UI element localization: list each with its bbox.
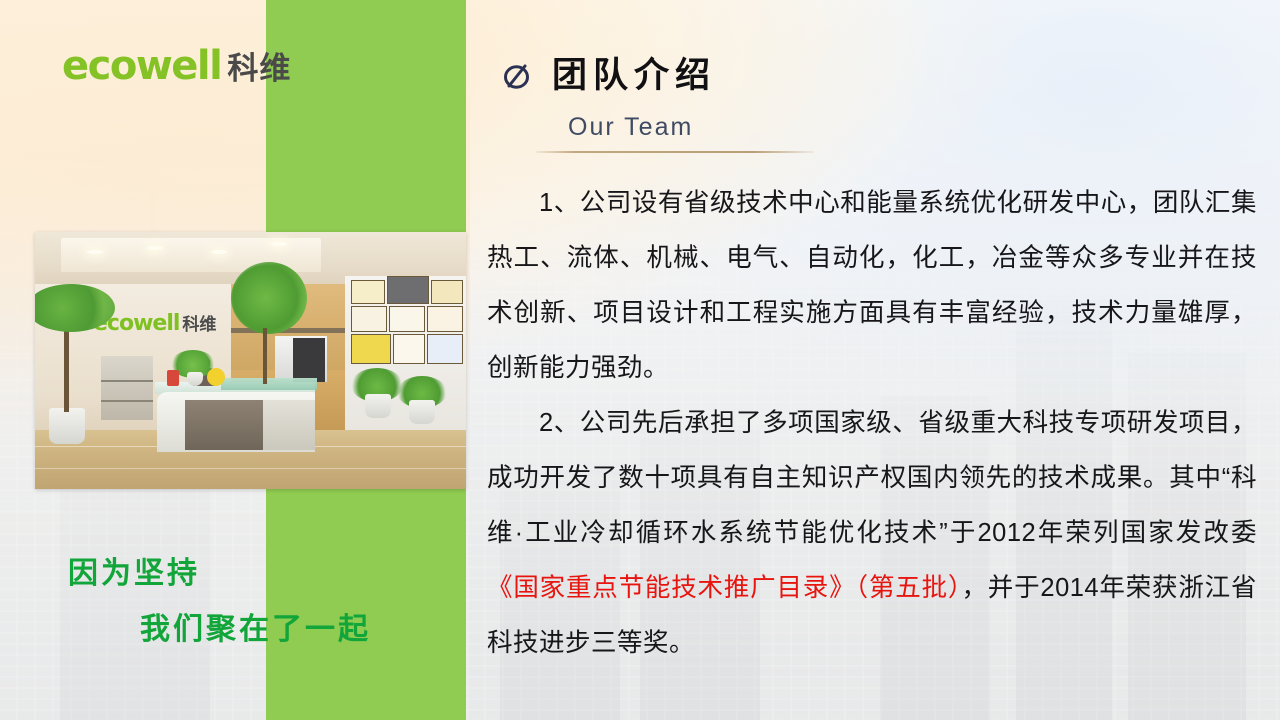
- photo-plant-pot-right-2: [409, 400, 435, 424]
- photo-side-shelf: [101, 356, 153, 420]
- photo-side-shelf-line-2: [101, 400, 153, 402]
- photo-desk-glass-panel: [221, 378, 317, 390]
- photo-certificate-2: [387, 276, 429, 304]
- photo-certificate-7: [351, 334, 391, 364]
- page-title: 团队介绍: [552, 58, 716, 93]
- photo-desk-red-cup: [167, 370, 179, 386]
- logo-text-cn: 科维: [227, 53, 291, 84]
- photo-certificate-3: [431, 280, 463, 304]
- photo-certificate-4: [351, 306, 387, 332]
- photo-certificate-5: [389, 306, 425, 332]
- company-logo: ecowell 科维: [62, 46, 291, 86]
- photo-side-shelf-line-1: [101, 380, 153, 382]
- paragraph-1-number: 1、: [539, 189, 580, 217]
- photo-ceiling-light-2: [147, 246, 163, 250]
- photo-plant-pot-left: [49, 408, 85, 444]
- slogan-line-1: 因为坚持: [68, 548, 200, 592]
- paragraph-2-catalog-highlight: 《国家重点节能技术推广目录》（第五批）: [487, 574, 961, 602]
- slashed-circle-icon: [500, 59, 534, 93]
- photo-certificate-9: [427, 334, 463, 364]
- photo-ceiling-light-3: [211, 250, 227, 254]
- office-reception-photo: ecowell 科维: [35, 232, 466, 489]
- slide-canvas: ecowell 科维 ecowell 科维: [0, 0, 1280, 720]
- page-subtitle: Our Team: [568, 113, 693, 142]
- photo-ceiling-light-4: [271, 242, 287, 246]
- header-divider: [536, 151, 814, 153]
- paragraph-1-text: 公司设有省级技术中心和能量系统优化研发中心，团队汇集热工、流体、机械、电气、自动…: [487, 189, 1257, 382]
- photo-wall-logo-cn: 科维: [182, 310, 216, 335]
- photo-plant-pot-right-1: [365, 394, 391, 418]
- slogan-line-2: 我们聚在了一起: [140, 604, 371, 648]
- body-content: 1、公司设有省级技术中心和能量系统优化研发中心，团队汇集热工、流体、机械、电气、…: [487, 176, 1257, 671]
- photo-floor-seam-2: [35, 468, 466, 469]
- paragraph-2-number: 2、: [539, 409, 580, 437]
- photo-desk-metal-panel: [185, 400, 263, 450]
- photo-certificate-6: [427, 306, 463, 332]
- photo-certificate-1: [351, 280, 385, 304]
- paragraph-1: 1、公司设有省级技术中心和能量系统优化研发中心，团队汇集热工、流体、机械、电气、…: [487, 176, 1257, 396]
- paragraph-2: 2、公司先后承担了多项国家级、省级重大科技专项研发项目，成功开发了数十项具有自主…: [487, 396, 1257, 671]
- photo-plant-foliage-center: [231, 262, 307, 334]
- paragraph-2-text-middle: 于2012年荣列国家发改委: [948, 519, 1257, 547]
- photo-ceiling-light-1: [87, 250, 103, 254]
- section-header: 团队介绍: [500, 58, 716, 93]
- photo-certificate-8: [393, 334, 425, 364]
- photo-printer-dark: [293, 338, 325, 382]
- photo-desk-side-panel: [263, 400, 315, 450]
- photo-desk-yellow-toy: [207, 368, 225, 386]
- logo-text-en: ecowell: [62, 46, 221, 86]
- paragraph-2-text-before: 公司先后承担了多项国家级、省级重大科技专项研发项目，成功开发了数十项具有自主知识…: [487, 409, 1257, 492]
- photo-plant-trunk-center: [263, 328, 267, 384]
